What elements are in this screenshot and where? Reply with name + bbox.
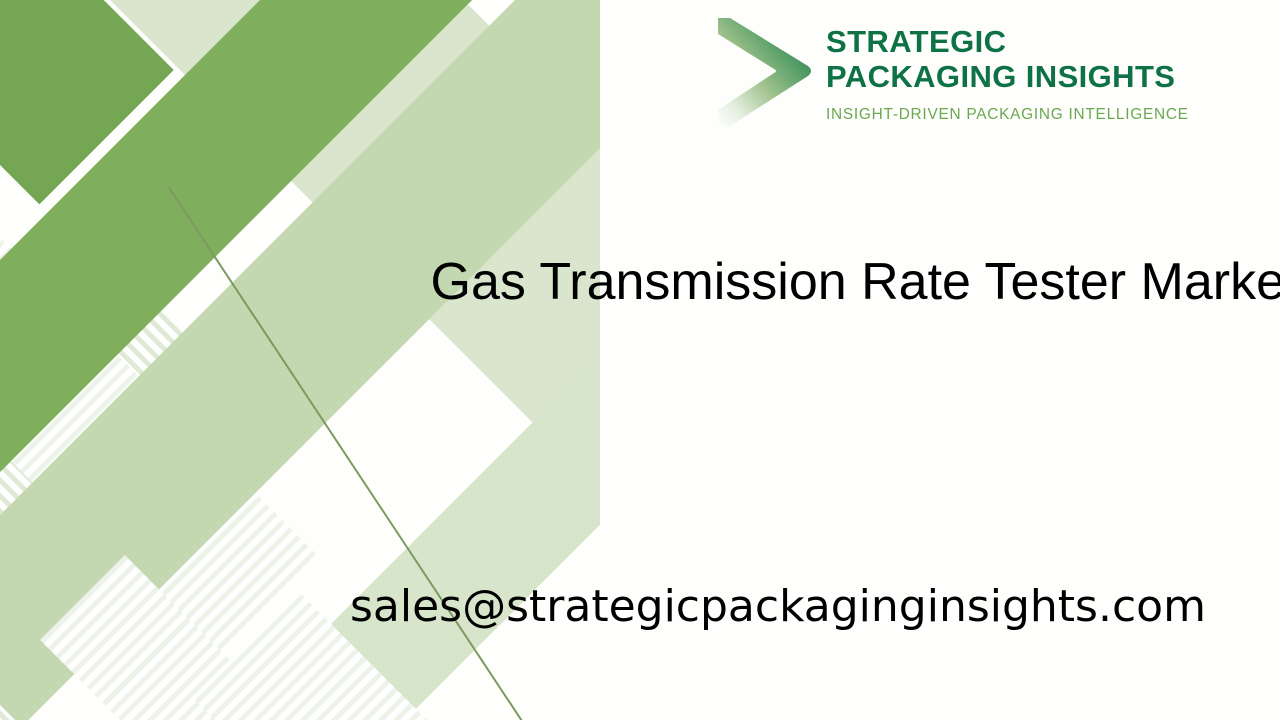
page-title: Gas Transmission Rate Tester Market [360,256,1280,308]
left-stripe-panel [0,224,318,662]
logo-wordmark: STRATEGIC PACKAGING INSIGHTS INSIGHT-DRI… [826,12,1189,124]
crossing-stripe-panel [0,210,293,720]
contact-email: sales@strategicpackaginginsights.com [350,580,1206,634]
dark-green-block [0,0,174,204]
logo-tagline: INSIGHT-DRIVEN PACKAGING INTELLIGENCE [826,106,1189,124]
logo-line-2: PACKAGING INSIGHTS [826,59,1189,94]
chevron-arrow-mark [712,14,816,130]
mid-green-block-top [165,0,490,43]
company-logo: STRATEGIC PACKAGING INSIGHTS INSIGHT-DRI… [712,12,1224,140]
presentation-slide: STRATEGIC PACKAGING INSIGHTS INSIGHT-DRI… [0,0,1280,720]
logo-line-1: STRATEGIC [826,24,1189,59]
